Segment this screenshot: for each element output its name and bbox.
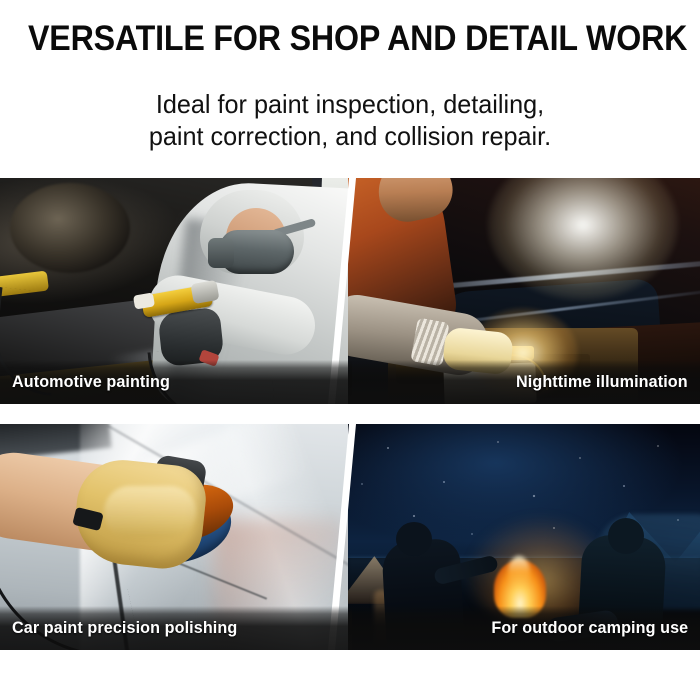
camper-head xyxy=(608,518,644,554)
respirator-cartridge xyxy=(208,238,234,268)
caption-text: Nighttime illumination xyxy=(516,372,688,392)
caption-bar-car-paint-precision-polishing: Car paint precision polishing xyxy=(0,606,352,650)
caption-bar-automotive-painting: Automotive painting xyxy=(0,360,352,404)
glove-knuckle-highlight xyxy=(104,486,196,538)
wheel-arch-shape xyxy=(10,183,130,273)
subtitle-line-2: paint correction, and collision repair. xyxy=(49,120,650,152)
caption-text: Car paint precision polishing xyxy=(12,618,237,638)
gallery-row-top: Automotive painting xyxy=(0,178,700,404)
product-feature-page: VERSATILE FOR SHOP AND DETAIL WORK Ideal… xyxy=(0,0,700,700)
caption-text: For outdoor camping use xyxy=(491,618,688,638)
camper-head xyxy=(396,522,432,556)
gallery-item-outdoor-camping[interactable]: For outdoor camping use xyxy=(348,424,700,650)
caption-bar-nighttime-illumination: Nighttime illumination xyxy=(348,360,700,404)
campfire-flame-tip xyxy=(508,556,530,588)
gallery-item-nighttime-illumination[interactable]: Nighttime illumination xyxy=(348,178,700,404)
subtitle-line-1: Ideal for paint inspection, detailing, xyxy=(49,88,650,120)
caption-text: Automotive painting xyxy=(12,372,170,392)
caption-bar-outdoor-camping: For outdoor camping use xyxy=(348,606,700,650)
header: VERSATILE FOR SHOP AND DETAIL WORK Ideal… xyxy=(0,0,700,178)
gallery-item-automotive-painting[interactable]: Automotive painting xyxy=(0,178,352,404)
page-title: VERSATILE FOR SHOP AND DETAIL WORK xyxy=(28,21,672,57)
feature-gallery-grid: Automotive painting xyxy=(0,178,700,650)
page-subtitle: Ideal for paint inspection, detailing, p… xyxy=(49,88,650,152)
gallery-row-bottom: Car paint precision polishing xyxy=(0,424,700,650)
gallery-item-car-paint-precision-polishing[interactable]: Car paint precision polishing xyxy=(0,424,352,650)
